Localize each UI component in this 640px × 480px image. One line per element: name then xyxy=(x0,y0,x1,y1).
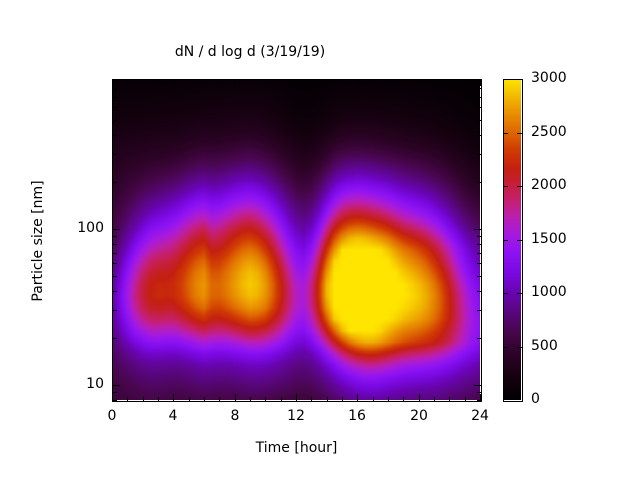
x-tick-minor xyxy=(403,397,404,401)
x-tick-label: 20 xyxy=(389,408,449,424)
x-tick-minor xyxy=(388,397,389,401)
x-tick-minor-top xyxy=(465,79,466,83)
x-tick-minor xyxy=(189,397,190,401)
y-tick-label: 100 xyxy=(44,220,104,236)
x-tick-label: 16 xyxy=(327,408,387,424)
x-axis-label: Time [hour] xyxy=(112,440,481,456)
x-tick-minor xyxy=(158,397,159,401)
x-tick-minor-top xyxy=(281,79,282,83)
y-tick-minor xyxy=(113,392,117,393)
x-tick-label: 0 xyxy=(82,408,142,424)
y-tick-minor-right xyxy=(477,263,481,264)
x-tick-minor-top xyxy=(311,79,312,83)
y-tick-minor xyxy=(113,97,117,98)
x-tick-minor-top xyxy=(434,79,435,83)
x-tick-minor xyxy=(127,397,128,401)
colorbar-tick xyxy=(503,133,508,134)
y-tick-minor-right xyxy=(477,107,481,108)
y-tick-minor-right xyxy=(474,385,481,386)
colorbar-tick xyxy=(503,347,508,348)
x-tick-minor xyxy=(250,397,251,401)
y-tick-minor xyxy=(113,107,117,108)
colorbar-tick-right xyxy=(517,186,522,187)
x-tick-minor xyxy=(419,394,420,401)
colorbar-tick-label: 1500 xyxy=(531,231,567,247)
y-tick-minor-right xyxy=(477,244,481,245)
x-tick-minor xyxy=(296,394,297,401)
y-tick-minor xyxy=(113,400,117,401)
y-tick-minor xyxy=(113,338,117,339)
x-tick-minor-top xyxy=(127,79,128,83)
x-tick-minor xyxy=(204,397,205,401)
y-tick-minor xyxy=(113,154,117,155)
x-tick-minor xyxy=(311,397,312,401)
x-tick-minor xyxy=(143,397,144,401)
colorbar-tick-label: 3000 xyxy=(531,70,567,86)
y-tick-minor xyxy=(113,88,117,89)
y-tick-minor-right xyxy=(477,88,481,89)
x-tick-minor-top xyxy=(265,79,266,83)
colorbar-tick-right xyxy=(517,240,522,241)
y-tick-minor-right xyxy=(477,80,481,81)
y-tick-minor xyxy=(113,229,120,230)
colorbar-tick-right xyxy=(517,133,522,134)
x-tick-minor-top xyxy=(143,79,144,83)
x-tick-minor xyxy=(357,394,358,401)
y-axis-label: Particle size [nm] xyxy=(30,141,46,341)
y-tick-minor xyxy=(113,385,120,386)
x-tick-minor xyxy=(465,397,466,401)
x-tick-minor-top xyxy=(403,79,404,83)
x-tick-label: 12 xyxy=(266,408,326,424)
colorbar-tick-label: 2500 xyxy=(531,124,567,140)
y-tick-minor-right xyxy=(477,236,481,237)
x-tick-minor xyxy=(219,397,220,401)
x-tick-minor-top xyxy=(173,79,174,86)
x-tick-minor-top xyxy=(342,79,343,83)
x-tick-minor xyxy=(449,397,450,401)
x-tick-label: 24 xyxy=(450,408,510,424)
x-tick-minor-top xyxy=(449,79,450,83)
heatmap-image xyxy=(112,79,480,400)
x-tick-minor-top xyxy=(327,79,328,83)
y-tick-minor-right xyxy=(477,276,481,277)
x-tick-minor-top xyxy=(388,79,389,83)
x-tick-minor-top xyxy=(419,79,420,86)
plot-figure: dN / d log d (3/19/19) 04812162024 10100… xyxy=(0,0,640,480)
x-tick-minor xyxy=(373,397,374,401)
colorbar-tick-label: 1000 xyxy=(531,284,567,300)
x-tick-minor xyxy=(235,394,236,401)
y-tick-minor xyxy=(113,310,117,311)
y-tick-minor-right xyxy=(477,97,481,98)
x-tick-minor-top xyxy=(373,79,374,83)
x-tick-minor-top xyxy=(357,79,358,86)
y-tick-minor-right xyxy=(477,154,481,155)
colorbar-tick-label: 2000 xyxy=(531,177,567,193)
y-tick-label: 10 xyxy=(44,376,104,392)
x-tick-minor-top xyxy=(204,79,205,83)
x-tick-minor-top xyxy=(219,79,220,83)
colorbar-tick xyxy=(503,240,508,241)
y-tick-minor-right xyxy=(477,392,481,393)
colorbar-tick xyxy=(503,186,508,187)
colorbar-tick xyxy=(503,293,508,294)
y-tick-minor xyxy=(113,135,117,136)
plot-title: dN / d log d (3/19/19) xyxy=(0,44,500,60)
colorbar-tick-label: 500 xyxy=(531,338,558,354)
y-tick-minor xyxy=(113,244,117,245)
y-tick-minor-right xyxy=(477,253,481,254)
x-tick-label: 8 xyxy=(205,408,265,424)
colorbar-tick-right xyxy=(517,293,522,294)
y-tick-minor-right xyxy=(477,291,481,292)
x-tick-minor-top xyxy=(250,79,251,83)
y-tick-minor xyxy=(113,276,117,277)
x-tick-minor-top xyxy=(189,79,190,83)
y-tick-minor-right xyxy=(474,229,481,230)
y-tick-minor xyxy=(113,236,117,237)
y-tick-minor-right xyxy=(477,120,481,121)
y-tick-minor-right xyxy=(477,135,481,136)
y-tick-minor-right xyxy=(477,338,481,339)
y-tick-minor-right xyxy=(477,400,481,401)
x-tick-minor xyxy=(327,397,328,401)
y-tick-minor xyxy=(113,263,117,264)
y-tick-minor xyxy=(113,291,117,292)
y-tick-minor xyxy=(113,253,117,254)
y-tick-minor xyxy=(113,120,117,121)
x-tick-minor xyxy=(434,397,435,401)
y-tick-minor xyxy=(113,80,117,81)
x-tick-minor xyxy=(281,397,282,401)
colorbar-tick-label: 0 xyxy=(531,391,540,407)
x-tick-minor xyxy=(265,397,266,401)
x-tick-minor xyxy=(173,394,174,401)
x-tick-minor-top xyxy=(158,79,159,83)
x-tick-minor-top xyxy=(296,79,297,86)
x-tick-minor xyxy=(342,397,343,401)
y-tick-minor xyxy=(113,182,117,183)
y-tick-minor-right xyxy=(477,310,481,311)
x-tick-label: 4 xyxy=(143,408,203,424)
x-tick-minor-top xyxy=(235,79,236,86)
colorbar-tick-right xyxy=(517,347,522,348)
y-tick-minor-right xyxy=(477,182,481,183)
